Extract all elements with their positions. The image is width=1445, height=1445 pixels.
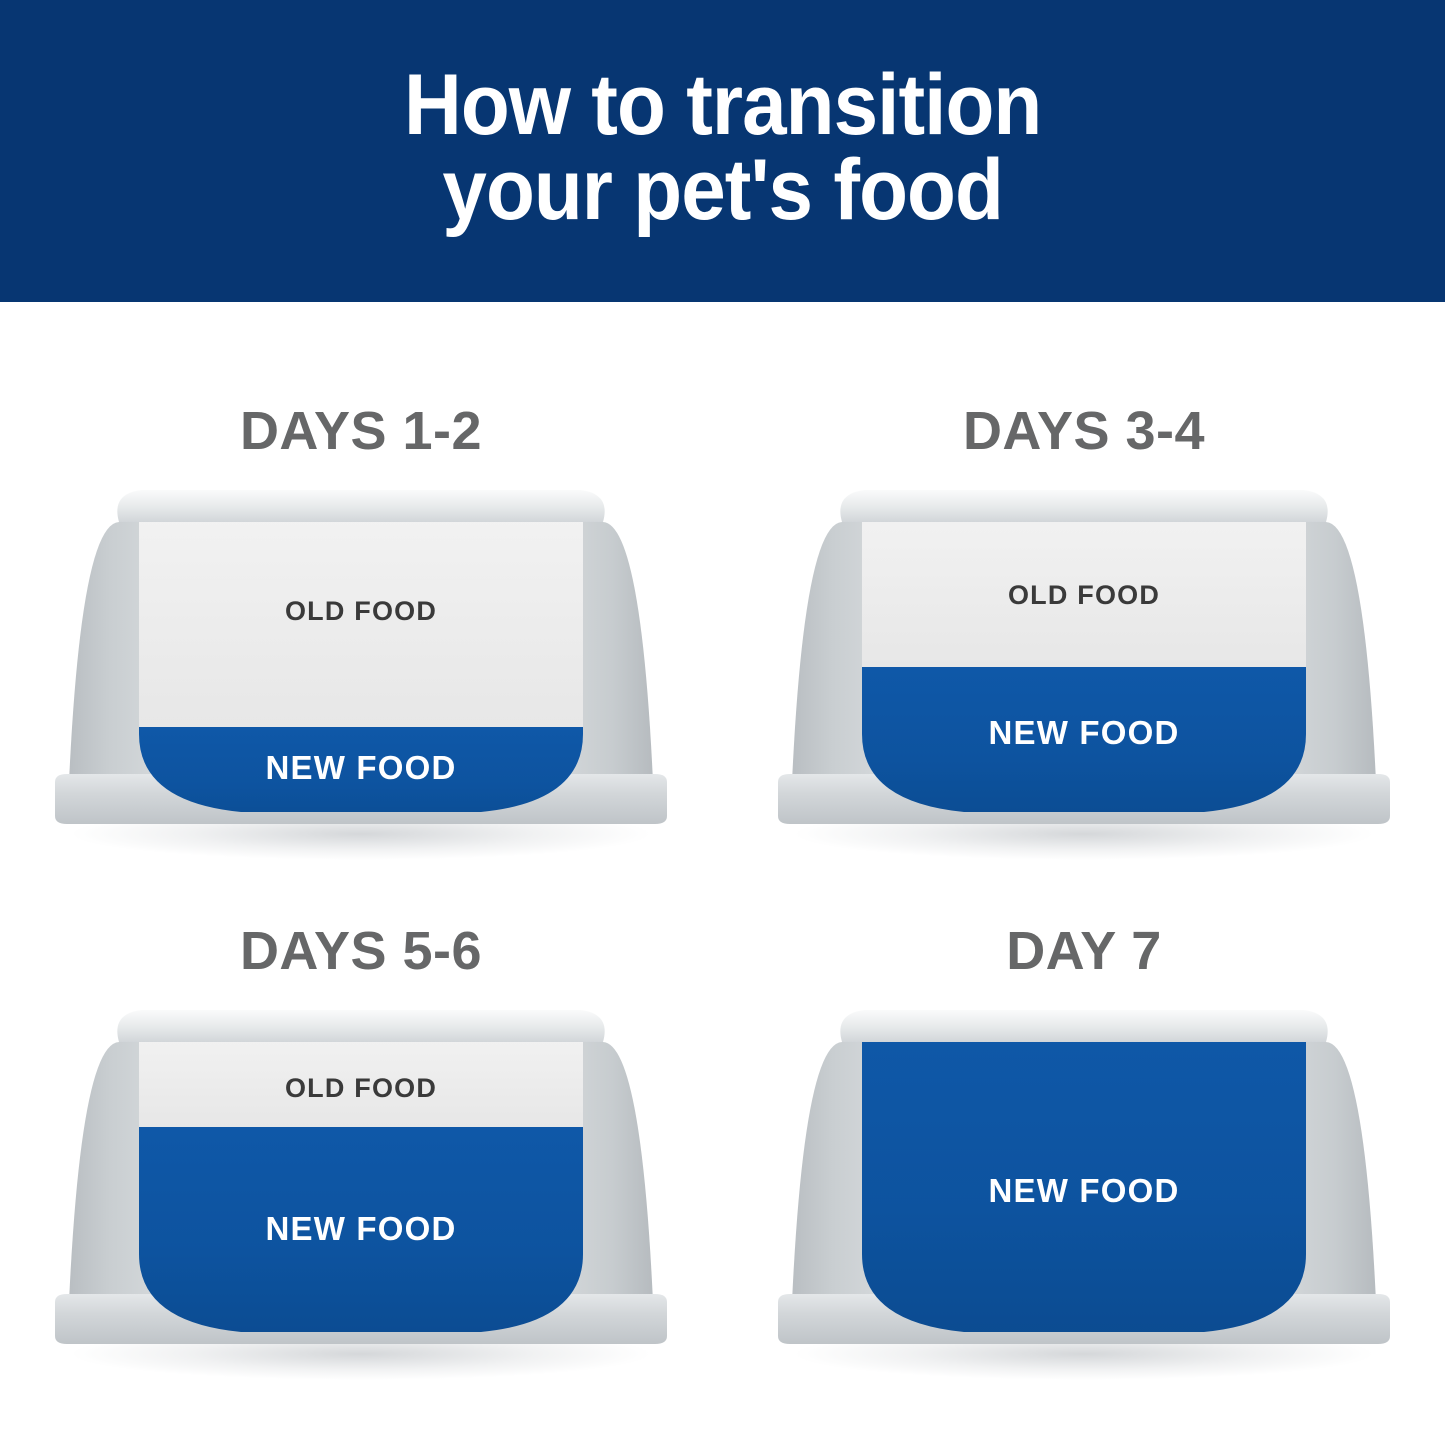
new-food-label: NEW FOOD	[988, 714, 1179, 751]
old-food-label: OLD FOOD	[1008, 580, 1160, 610]
step-card-days-3-4: DAYS 3-4 OLD FOOD NEW FOOD	[723, 302, 1445, 874]
page-title: How to transition your pet's food	[404, 63, 1041, 239]
bowl-illustration-days-1-2: OLD FOOD NEW FOOD	[41, 482, 681, 872]
step-day-label: DAYS 1-2	[0, 400, 722, 462]
step-day-label: DAY 7	[723, 920, 1445, 982]
transition-steps-grid: DAYS 1-2	[0, 302, 1445, 1445]
step-card-days-5-6: DAYS 5-6 OLD FOOD NEW FOOD	[0, 822, 722, 1394]
step-day-label: DAYS 3-4	[723, 400, 1445, 462]
bowl-rim	[840, 1010, 1327, 1042]
old-food-label: OLD FOOD	[285, 1073, 437, 1103]
bowl-food-well	[854, 512, 1314, 837]
bowl-illustration-days-5-6: OLD FOOD NEW FOOD	[41, 1002, 681, 1392]
step-card-days-1-2: DAYS 1-2	[0, 302, 722, 874]
bowl-rim	[840, 490, 1327, 522]
new-food-label: NEW FOOD	[265, 1210, 456, 1247]
bowl-illustration-day-7: NEW FOOD	[764, 1002, 1404, 1392]
step-day-label: DAYS 5-6	[0, 920, 722, 982]
bowl-illustration-days-3-4: OLD FOOD NEW FOOD	[764, 482, 1404, 872]
header-banner: How to transition your pet's food	[0, 0, 1445, 302]
old-food-label: OLD FOOD	[285, 596, 437, 626]
new-food-label: NEW FOOD	[988, 1172, 1179, 1209]
step-card-day-7: DAY 7 NEW FOOD	[723, 822, 1445, 1394]
bowl-rim	[117, 490, 604, 522]
bowl-food-well	[131, 512, 591, 837]
new-food-label: NEW FOOD	[265, 749, 456, 786]
bowl-rim	[117, 1010, 604, 1042]
